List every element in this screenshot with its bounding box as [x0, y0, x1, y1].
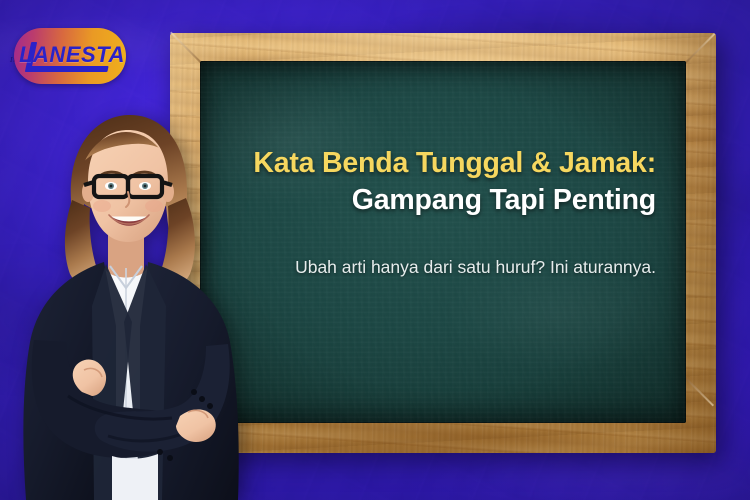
presenter-photo — [8, 96, 274, 500]
headline-line-2: Gampang Tapi Penting — [240, 182, 656, 219]
logo-wordmark: LANESTA — [14, 28, 126, 84]
lanesta-logo[interactable]: LANESTA — [14, 28, 126, 84]
headline-line-1: Kata Benda Tunggal & Jamak: — [240, 145, 656, 182]
chalkboard-text-block: Kata Benda Tunggal & Jamak: Gampang Tapi… — [240, 145, 656, 281]
subtitle-text: Ubah arti hanya dari satu huruf? Ini atu… — [266, 253, 656, 281]
poster-canvas: Kata Benda Tunggal & Jamak: Gampang Tapi… — [0, 0, 750, 500]
